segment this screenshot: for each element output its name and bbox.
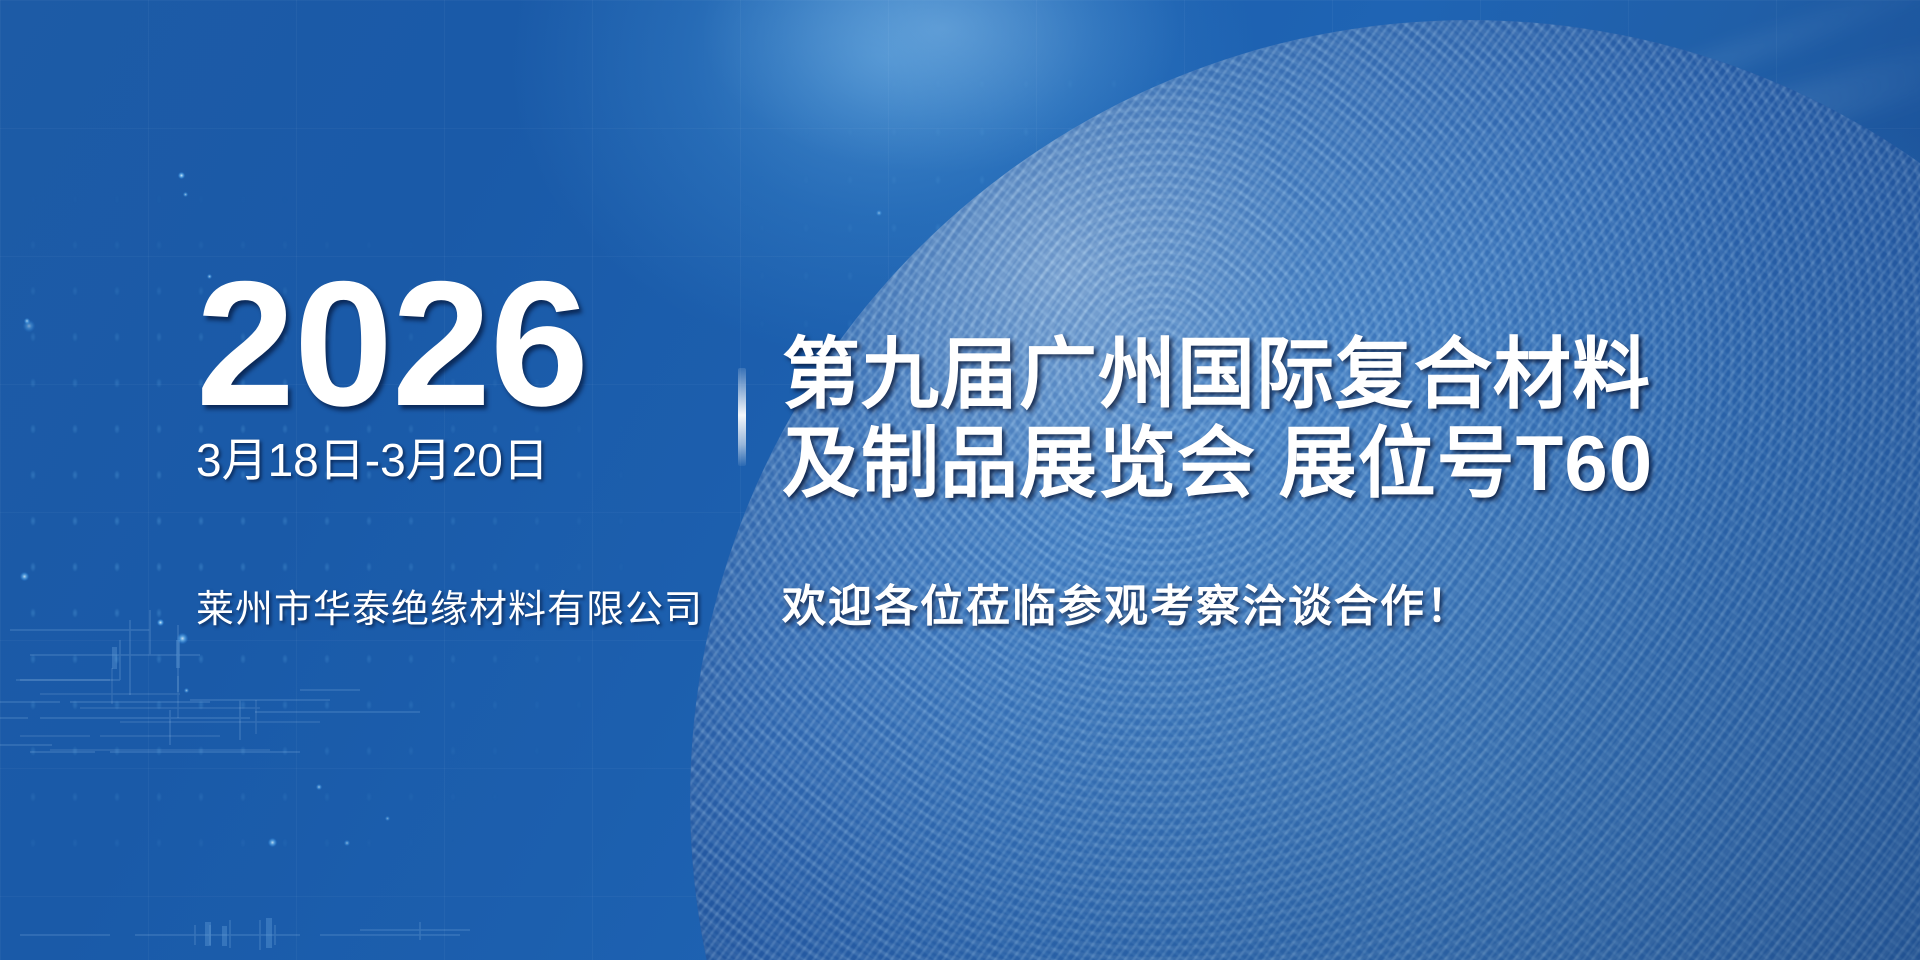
welcome-message-text: 欢迎各位莅临参观考察洽谈合作！ <box>782 570 1472 634</box>
banner-content: 2026 3月18日-3月20日 莱州市华泰绝缘材料有限公司 第九届广州国际复合… <box>0 0 1920 960</box>
vertical-divider <box>738 368 746 466</box>
year-text: 2026 <box>196 262 736 426</box>
date-range-text: 3月18日-3月20日 <box>196 436 736 486</box>
event-title-block: 第九届广州国际复合材料 及制品展览会 展位号T60 <box>782 330 1882 508</box>
event-title-line-1: 第九届广州国际复合材料 <box>782 330 1882 419</box>
exhibition-banner: 2026 3月18日-3月20日 莱州市华泰绝缘材料有限公司 第九届广州国际复合… <box>0 0 1920 960</box>
company-name-text: 莱州市华泰绝缘材料有限公司 <box>196 578 703 633</box>
event-title-line-2: 及制品展览会 展位号T60 <box>782 419 1882 508</box>
year-block: 2026 3月18日-3月20日 <box>196 262 736 485</box>
